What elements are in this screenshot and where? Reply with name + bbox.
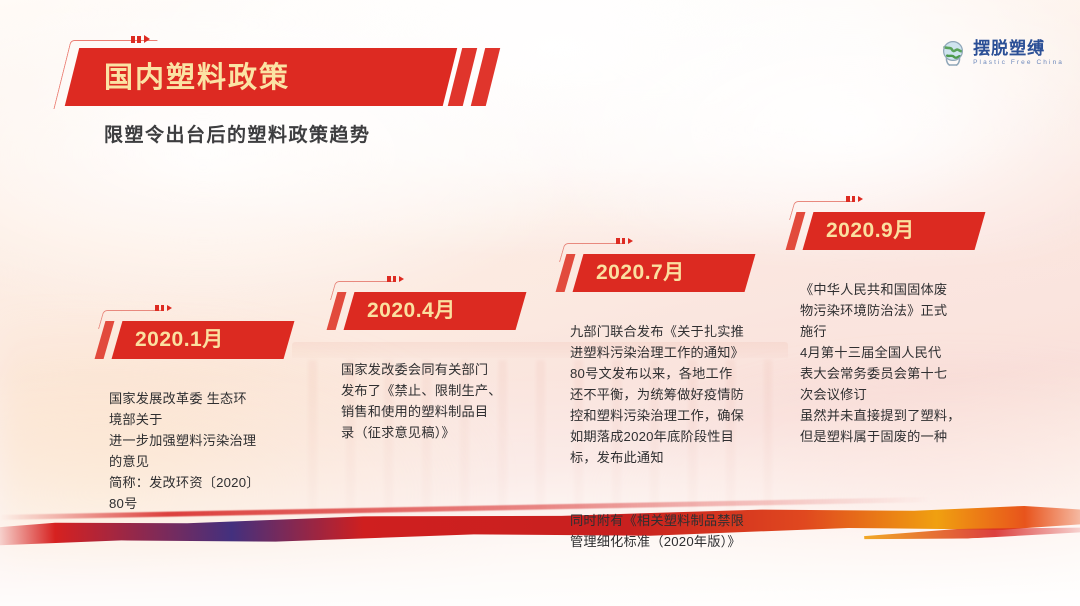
globe-icon	[940, 40, 966, 67]
marker-square-1	[846, 196, 850, 202]
page-subtitle: 限塑令出台后的塑料政策趋势	[104, 120, 371, 147]
logo-name-en: Plastic Free China	[973, 60, 1064, 67]
marker-square-2	[622, 238, 626, 244]
card-body: 国家发展改革委 生态环 境部关于 进一步加强塑料污染治理 的意见 简称：发改环资…	[109, 367, 309, 535]
card-date-label: 2020.9月	[826, 212, 996, 250]
marker-square-1	[155, 305, 159, 311]
logo-name-cn: 摆脱塑缚	[973, 40, 1064, 57]
card-body: 国家发改委会同有关部门 发布了《禁止、限制生产、 销售和使用的塑料制品目 录（征…	[341, 338, 541, 464]
marker-triangle	[858, 196, 863, 202]
marker-square-1	[616, 238, 620, 244]
play-marker-icon	[616, 238, 633, 244]
card-date-label: 2020.7月	[596, 254, 766, 292]
marker-square-1	[131, 36, 135, 43]
play-marker-icon	[846, 196, 863, 202]
logo-text-block: 摆脱塑缚 Plastic Free China	[973, 40, 1064, 67]
play-marker-icon	[387, 276, 404, 282]
marker-triangle	[144, 35, 150, 43]
card-paragraph: 同时附有《相关塑料制品禁限 管理细化标准（2020年版）》	[570, 510, 770, 552]
brand-logo: 摆脱塑缚 Plastic Free China	[940, 40, 1064, 67]
marker-square-2	[161, 305, 165, 311]
marker-triangle	[167, 305, 172, 311]
card-date-label: 2020.4月	[367, 292, 537, 330]
marker-triangle	[628, 238, 633, 244]
card-paragraph: 国家发展改革委 生态环 境部关于 进一步加强塑料污染治理 的意见 简称：发改环资…	[109, 388, 309, 514]
marker-triangle	[399, 276, 404, 282]
marker-square-2	[393, 276, 397, 282]
play-marker-icon	[131, 35, 150, 43]
card-body: 九部门联合发布《关于扎实推 进塑料污染治理工作的通知》 80号文发布以来，各地工…	[570, 300, 770, 573]
slide-canvas: 国内塑料政策 限塑令出台后的塑料政策趋势 摆脱塑缚 Plastic Free C…	[0, 0, 1080, 606]
page-title: 国内塑料政策	[104, 58, 444, 98]
card-paragraph: 《中华人民共和国固体废 物污染环境防治法》正式 施行 4月第十三届全国人民代 表…	[800, 279, 1000, 447]
marker-square-2	[852, 196, 856, 202]
marker-square-1	[387, 276, 391, 282]
play-marker-icon	[155, 305, 172, 311]
card-paragraph: 九部门联合发布《关于扎实推 进塑料污染治理工作的通知》 80号文发布以来，各地工…	[570, 321, 770, 468]
marker-square-2	[137, 36, 141, 43]
card-date-label: 2020.1月	[135, 321, 305, 359]
card-paragraph: 国家发改委会同有关部门 发布了《禁止、限制生产、 销售和使用的塑料制品目 录（征…	[341, 359, 541, 443]
card-body: 《中华人民共和国固体废 物污染环境防治法》正式 施行 4月第十三届全国人民代 表…	[800, 258, 1000, 468]
